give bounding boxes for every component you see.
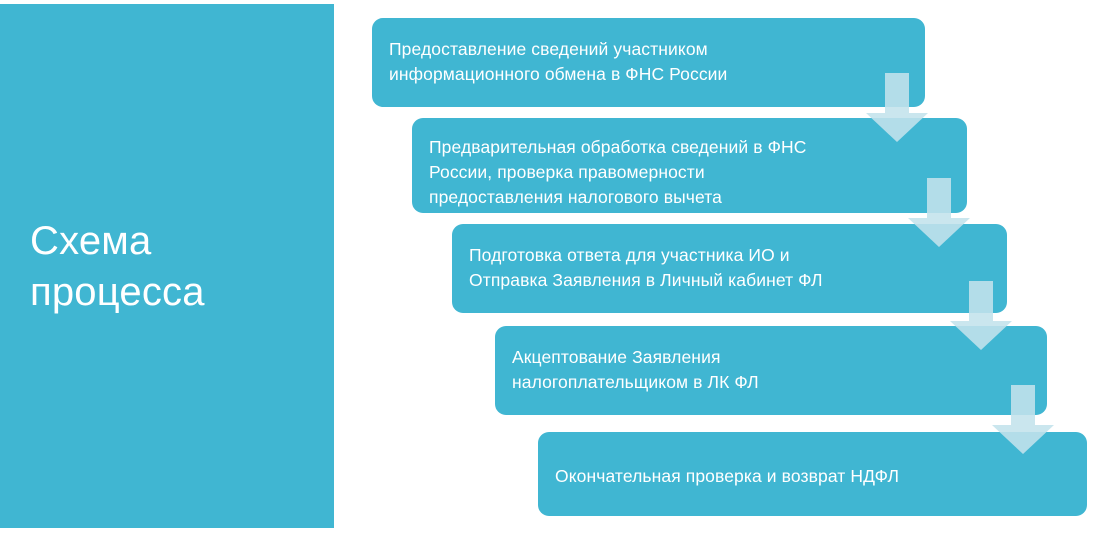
process-step-3[interactable]: Подготовка ответа для участника ИО и Отп… xyxy=(452,224,1007,313)
process-step-1-label: Предоставление сведений участником инфор… xyxy=(389,37,911,87)
process-step-5-label: Окончательная проверка и возврат НДФЛ xyxy=(555,464,1073,489)
slide-title: Схема процесса xyxy=(30,216,310,318)
slide-canvas: Схема процесса Предоставление сведений у… xyxy=(0,0,1107,533)
process-step-2-label: Предварительная обработка сведений в ФНС… xyxy=(429,135,953,210)
process-step-5[interactable]: Окончательная проверка и возврат НДФЛ xyxy=(538,432,1087,516)
process-step-3-label: Подготовка ответа для участника ИО и Отп… xyxy=(469,243,993,293)
title-panel: Схема процесса xyxy=(0,4,334,528)
process-step-1[interactable]: Предоставление сведений участником инфор… xyxy=(372,18,925,107)
process-step-2[interactable]: Предварительная обработка сведений в ФНС… xyxy=(412,118,967,213)
process-step-4[interactable]: Акцептование Заявления налогоплательщико… xyxy=(495,326,1047,415)
process-step-4-label: Акцептование Заявления налогоплательщико… xyxy=(512,345,1033,395)
